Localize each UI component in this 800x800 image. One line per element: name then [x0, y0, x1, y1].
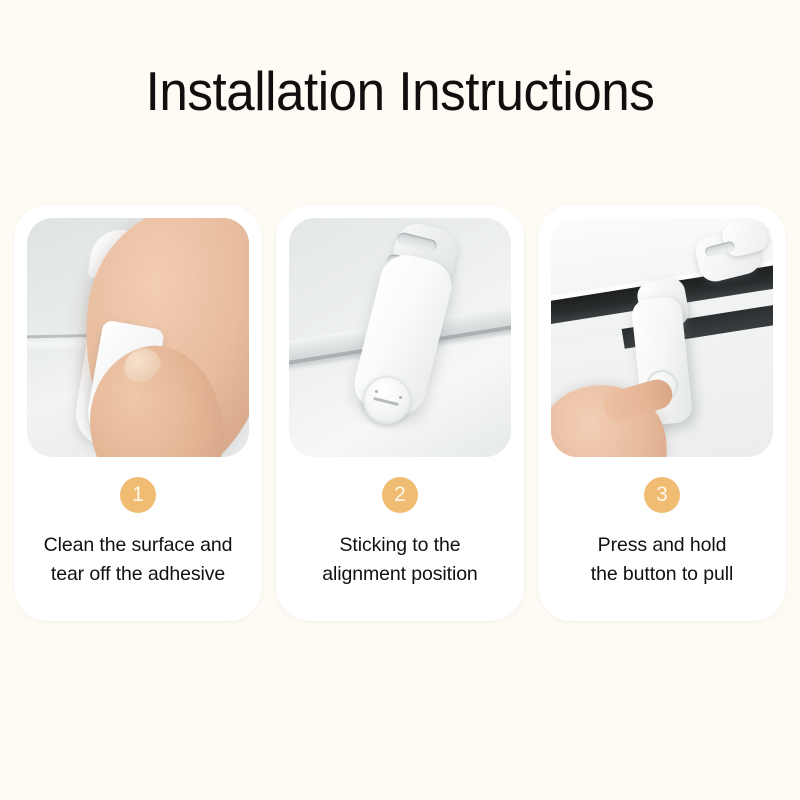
caption-line-2: tear off the adhesive: [20, 560, 256, 589]
photo-scene-lock-on-seam: [289, 218, 511, 457]
button-dot-right: [399, 396, 402, 399]
instructions-page: Installation Instructions: [0, 0, 800, 800]
caption-line-1: Clean the surface and: [20, 531, 256, 560]
step-image-3: [551, 218, 773, 457]
step-image-2: [289, 218, 511, 457]
step-caption-3: Press and hold the button to pull: [544, 531, 780, 589]
steps-row: 1 Clean the surface and tear off the adh…: [14, 205, 786, 621]
button-dot-left: [375, 390, 378, 393]
caption-line-2: alignment position: [282, 560, 518, 589]
step-badge-3: 3: [644, 477, 680, 513]
step-caption-1: Clean the surface and tear off the adhes…: [20, 531, 256, 589]
step-card-1[interactable]: 1 Clean the surface and tear off the adh…: [14, 205, 262, 621]
step-card-3[interactable]: 3 Press and hold the button to pull: [538, 205, 786, 621]
step-image-1: [27, 218, 249, 457]
step-card-2[interactable]: 2 Sticking to the alignment position: [276, 205, 524, 621]
caption-line-1: Press and hold: [544, 531, 780, 560]
caption-line-1: Sticking to the: [282, 531, 518, 560]
photo-scene-press-and-pull: [551, 218, 773, 457]
step-badge-1: 1: [120, 477, 156, 513]
page-title: Installation Instructions: [28, 58, 772, 124]
photo-scene-hand-holding-lock: [27, 218, 249, 457]
caption-line-2: the button to pull: [544, 560, 780, 589]
step-badge-2: 2: [382, 477, 418, 513]
step-caption-2: Sticking to the alignment position: [282, 531, 518, 589]
